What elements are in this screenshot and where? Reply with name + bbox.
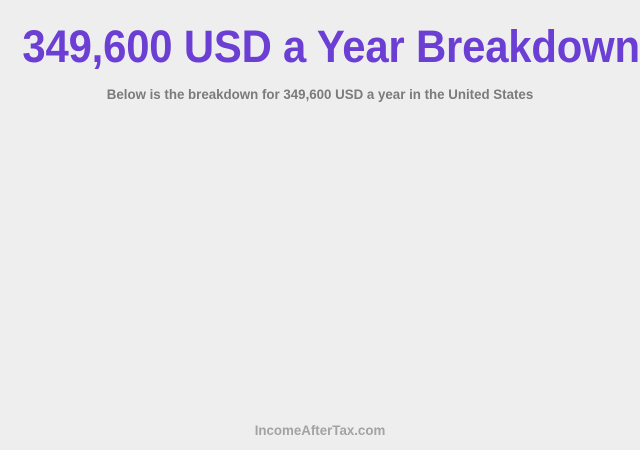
footer-watermark: IncomeAfterTax.com: [16, 422, 624, 438]
content-area: [0, 115, 640, 415]
page-title: 349,600 USD a Year Breakdown: [22, 21, 617, 73]
page-subtitle: Below is the breakdown for 349,600 USD a…: [16, 85, 624, 103]
page-root: 349,600 USD a Year Breakdown Below is th…: [0, 0, 640, 450]
